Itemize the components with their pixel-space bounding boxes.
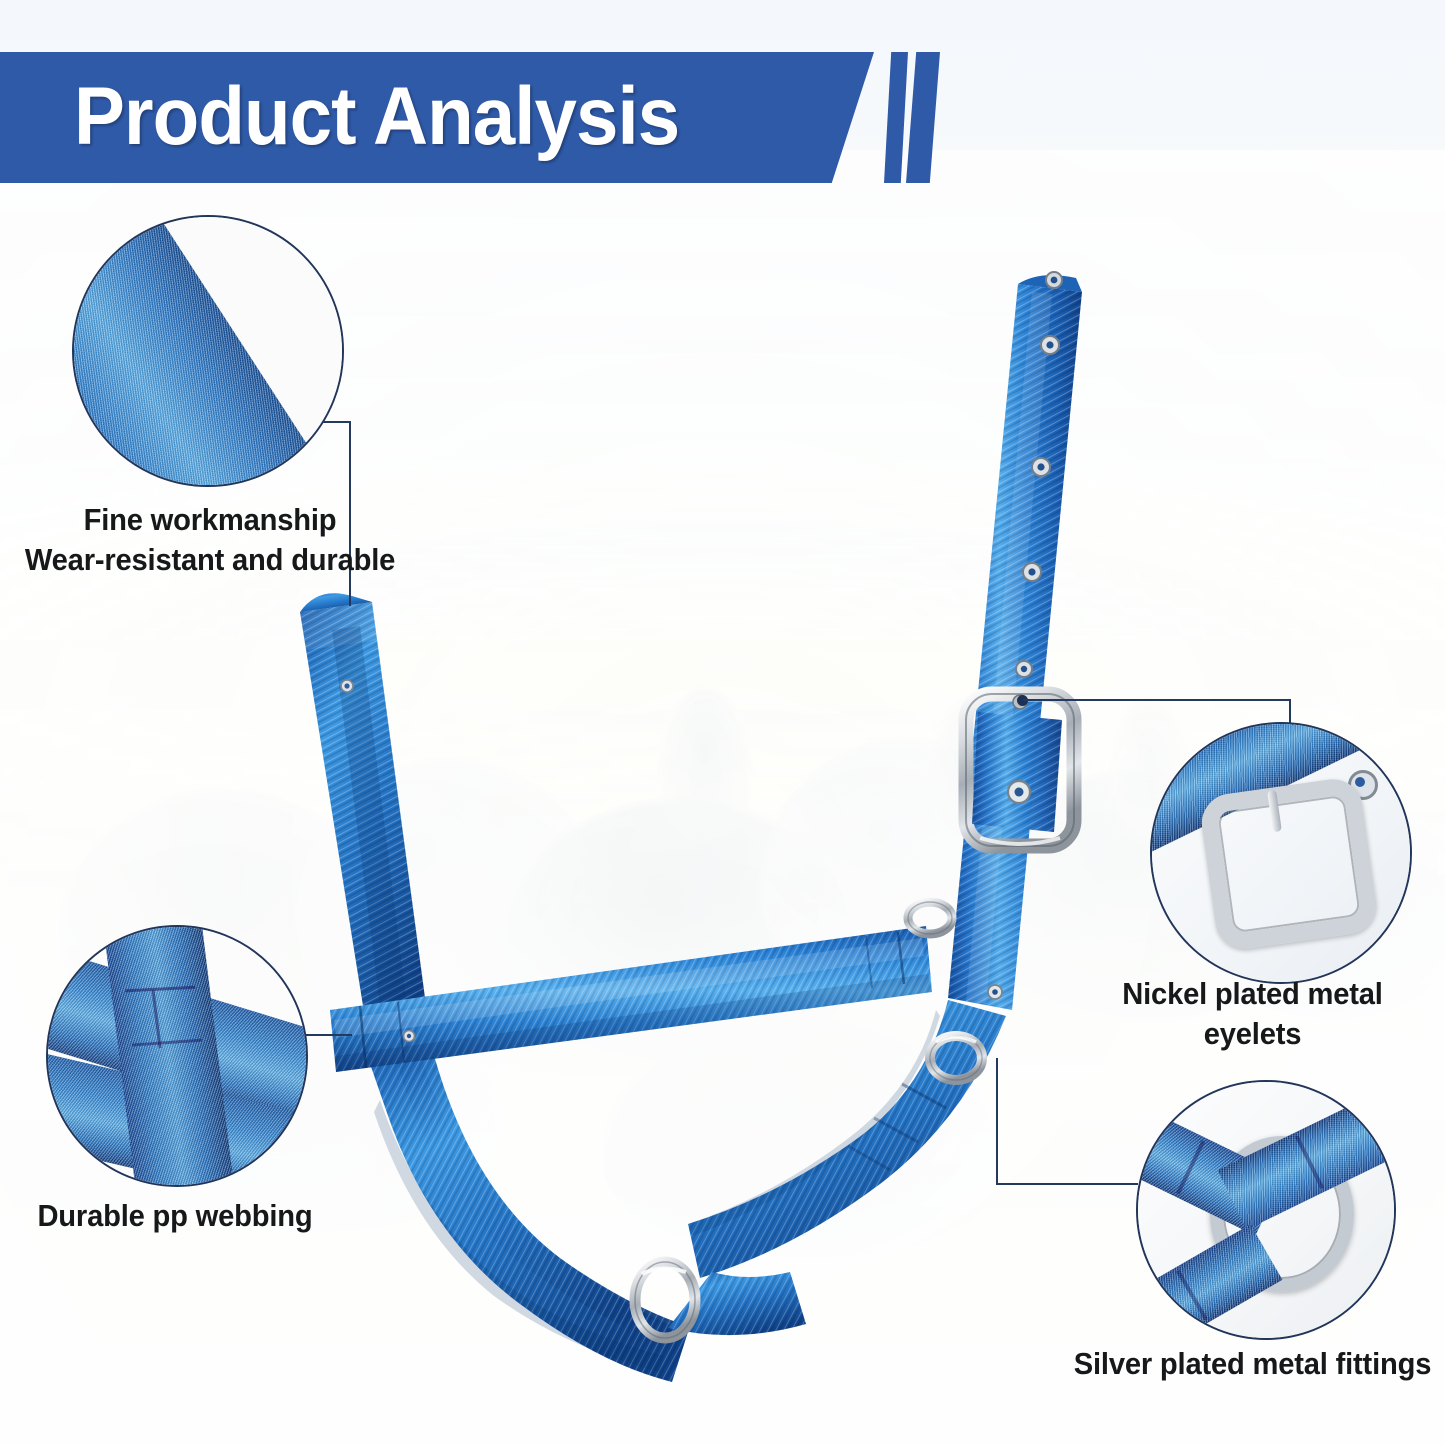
callout-label-fine-workmanship: Fine workmanship Wear-resistant and dura… bbox=[13, 500, 408, 581]
halter-eyelet bbox=[1016, 661, 1032, 677]
halter-throat-strap bbox=[688, 1000, 1006, 1278]
halter-left-cheek-strap bbox=[300, 593, 432, 1062]
buckle-frame-icon bbox=[1198, 775, 1380, 952]
callout-label-line-2: Wear-resistant and durable bbox=[13, 540, 408, 580]
halter-eyelet bbox=[1032, 458, 1050, 476]
callout-label-line-1: Fine workmanship bbox=[13, 500, 408, 540]
halter-metal-buckle bbox=[966, 694, 1074, 846]
halter-noseband bbox=[330, 926, 932, 1072]
halter-eyelet bbox=[988, 985, 1002, 999]
inset-circle-durable-pp-webbing bbox=[46, 925, 308, 1187]
callout-label-durable-pp-webbing: Durable pp webbing bbox=[11, 1196, 340, 1236]
halter-right-cheek-strap bbox=[948, 272, 1082, 1010]
halter-eyelet bbox=[1023, 563, 1041, 581]
connector-line-durable-pp-webbing bbox=[300, 1034, 352, 1036]
callout-label-nickel-plated-metal-eyelets: Nickel plated metal eyelets bbox=[1072, 974, 1434, 1055]
infographic-page: Product Analysis bbox=[0, 0, 1445, 1445]
connector-line-eyelets bbox=[1289, 699, 1291, 725]
halter-eyelet bbox=[1041, 336, 1059, 354]
callout-label-silver-plated-metal-fittings: Silver plated metal fittings bbox=[1072, 1344, 1434, 1384]
connector-line-eyelets bbox=[1023, 699, 1291, 701]
connector-line-fittings bbox=[996, 1058, 998, 1185]
inset-circle-silver-plated-metal-fittings bbox=[1136, 1080, 1396, 1340]
halter-side-d-ring bbox=[908, 902, 952, 934]
connector-line-fittings bbox=[996, 1183, 1138, 1185]
inset-circle-fine-workmanship bbox=[72, 215, 344, 487]
halter-eyelet bbox=[1046, 272, 1062, 288]
inset-circle-nickel-plated-metal-eyelets bbox=[1150, 722, 1412, 984]
